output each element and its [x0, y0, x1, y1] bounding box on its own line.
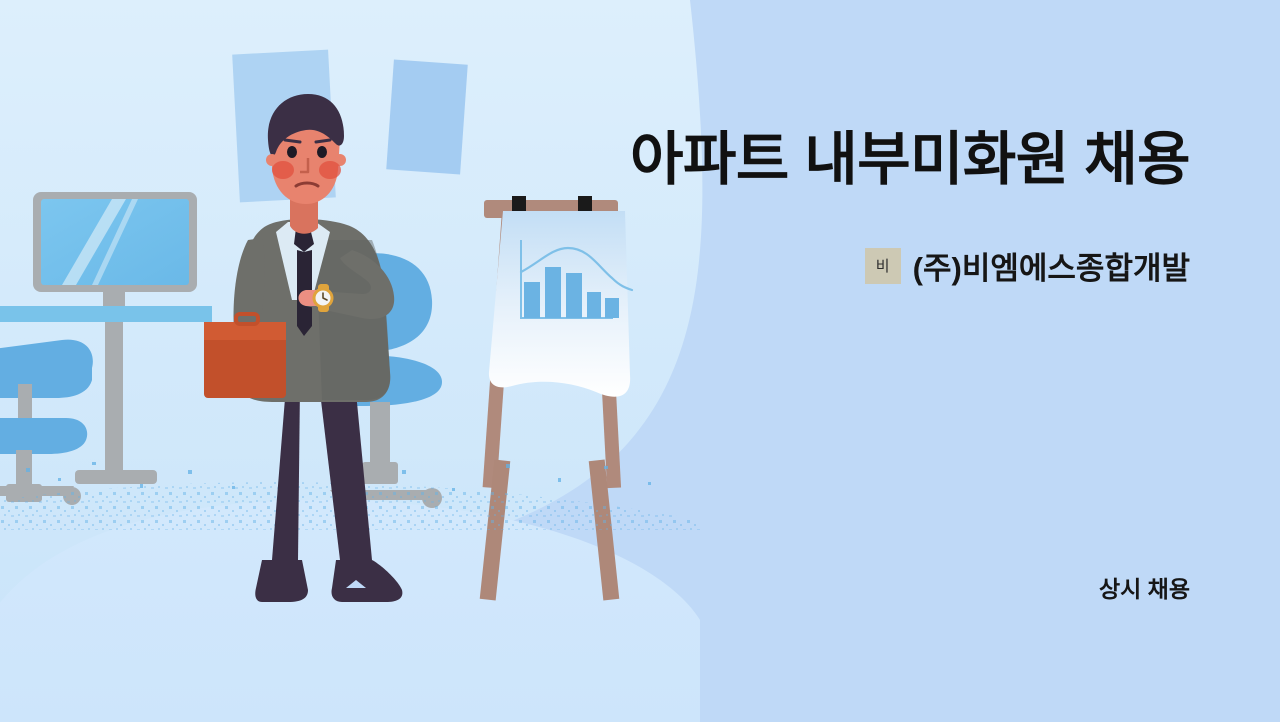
company-row[interactable]: 비 (주)비엠에스종합개발	[450, 243, 1190, 288]
office-illustration	[0, 0, 1280, 722]
job-posting-poster: 아파트 내부미화원 채용 비 (주)비엠에스종합개발 상시 채용	[0, 0, 1280, 722]
company-name: (주)비엠에스종합개발	[913, 243, 1190, 288]
desktop-monitor	[33, 192, 197, 320]
company-logo-badge: 비	[865, 248, 901, 284]
page-title: 아파트 내부미화원 채용	[450, 128, 1190, 193]
hiring-status-label: 상시 채용	[450, 570, 1190, 604]
